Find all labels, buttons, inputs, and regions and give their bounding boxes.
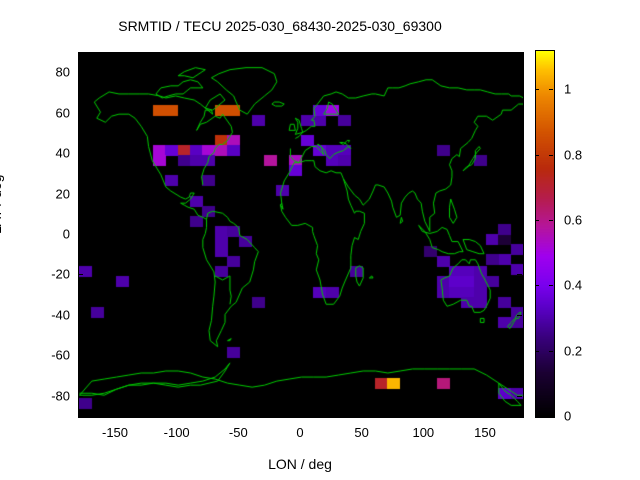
y-axis-tick-label: -40 <box>10 307 70 322</box>
y-axis-tick-mark <box>78 355 83 356</box>
x-axis-tick-mark <box>177 411 178 416</box>
y-axis-tick-mark <box>78 315 83 316</box>
y-axis-tick-label: -80 <box>10 388 70 403</box>
colorbar-tick-label: 0.6 <box>564 212 610 227</box>
x-axis-tick-mark <box>485 52 486 57</box>
colorbar-tick-label: 1 <box>564 82 610 97</box>
y-axis-tick-label: -20 <box>10 267 70 282</box>
y-axis-tick-mark <box>78 396 83 397</box>
x-axis-tick-mark <box>238 411 239 416</box>
colorbar-tick-mark <box>535 416 539 417</box>
y-axis-tick-mark <box>78 274 83 275</box>
y-axis-tick-label: -60 <box>10 348 70 363</box>
x-axis-tick-mark <box>362 52 363 57</box>
colorbar-tick-label: 0.2 <box>564 343 610 358</box>
colorbar-tick-mark <box>535 220 539 221</box>
y-axis-tick-mark <box>517 315 522 316</box>
colorbar-tick-mark <box>535 351 539 352</box>
x-axis-tick-mark <box>300 52 301 57</box>
y-axis-tick-mark <box>517 396 522 397</box>
x-axis-tick-label: 0 <box>270 425 330 440</box>
colorbar-tick-mark <box>535 285 539 286</box>
colorbar-tick-label: 0.4 <box>564 278 610 293</box>
x-axis-tick-label: 150 <box>455 425 515 440</box>
x-axis-tick-mark <box>485 411 486 416</box>
x-axis-tick-mark <box>300 411 301 416</box>
x-axis-tick-mark <box>115 411 116 416</box>
y-axis-tick-mark <box>517 72 522 73</box>
colorbar-tick-mark <box>549 220 553 221</box>
x-axis-tick-mark <box>423 52 424 57</box>
colorbar <box>535 50 555 418</box>
heatmap-canvas <box>79 53 523 417</box>
y-axis-tick-mark <box>517 234 522 235</box>
y-axis-tick-label: 20 <box>10 186 70 201</box>
y-axis-tick-mark <box>78 194 83 195</box>
y-axis-tick-label: 0 <box>10 227 70 242</box>
colorbar-tick-mark <box>549 416 553 417</box>
x-axis-tick-mark <box>238 52 239 57</box>
y-axis-tick-mark <box>78 113 83 114</box>
x-axis-tick-label: -150 <box>85 425 145 440</box>
y-axis-tick-label: 60 <box>10 105 70 120</box>
colorbar-tick-mark <box>535 89 539 90</box>
x-axis-tick-label: 100 <box>393 425 453 440</box>
x-axis-tick-label: -100 <box>147 425 207 440</box>
x-axis-label: LON / deg <box>78 456 522 472</box>
y-axis-tick-mark <box>517 274 522 275</box>
y-axis-tick-mark <box>517 153 522 154</box>
page-title: SRMTID / TECU 2025-030_68430-2025-030_69… <box>0 18 560 34</box>
colorbar-tick-label: 0 <box>564 409 610 424</box>
y-axis-tick-label: 40 <box>10 146 70 161</box>
colorbar-gradient <box>536 51 554 417</box>
y-axis-tick-mark <box>78 234 83 235</box>
colorbar-tick-mark <box>549 351 553 352</box>
y-axis-tick-mark <box>517 355 522 356</box>
x-axis-tick-mark <box>115 52 116 57</box>
colorbar-tick-mark <box>535 155 539 156</box>
colorbar-tick-mark <box>549 89 553 90</box>
x-axis-tick-mark <box>423 411 424 416</box>
x-axis-tick-label: -50 <box>208 425 268 440</box>
y-axis-label: LAT / deg <box>0 175 4 234</box>
y-axis-tick-mark <box>517 194 522 195</box>
colorbar-tick-label: 0.8 <box>564 147 610 162</box>
colorbar-tick-mark <box>549 155 553 156</box>
map-plot-area <box>78 52 524 418</box>
x-axis-tick-label: 50 <box>332 425 392 440</box>
y-axis-tick-mark <box>78 153 83 154</box>
y-axis-tick-label: 80 <box>10 65 70 80</box>
colorbar-tick-mark <box>549 285 553 286</box>
plot-window: SRMTID / TECU 2025-030_68430-2025-030_69… <box>0 0 640 480</box>
x-axis-tick-mark <box>362 411 363 416</box>
y-axis-tick-mark <box>517 113 522 114</box>
y-axis-tick-mark <box>78 72 83 73</box>
x-axis-tick-mark <box>177 52 178 57</box>
